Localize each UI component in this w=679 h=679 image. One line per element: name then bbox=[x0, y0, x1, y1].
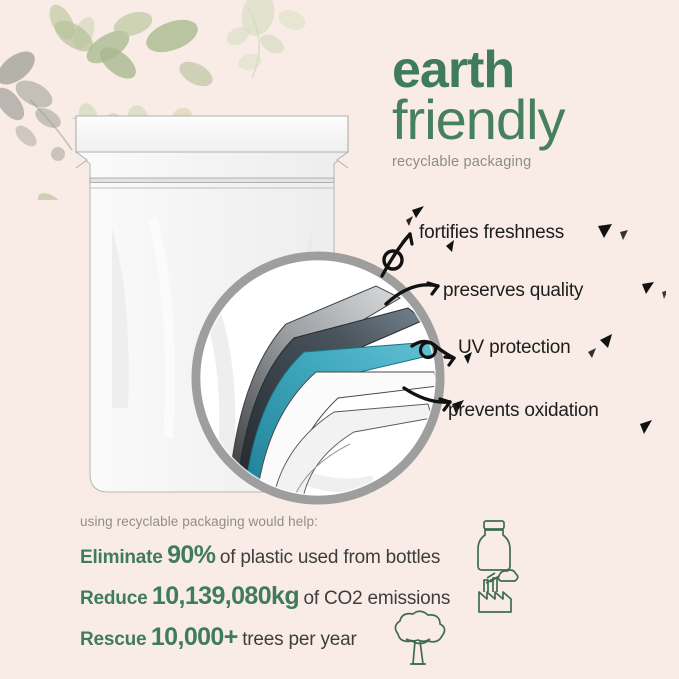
stat-verb: Eliminate bbox=[80, 547, 163, 568]
poster-canvas: earth friendly recyclable packaging fort… bbox=[0, 0, 679, 679]
stat-verb: Rescue bbox=[80, 629, 146, 650]
headline-block: earth friendly recyclable packaging bbox=[392, 46, 662, 170]
headline-line-2: friendly bbox=[392, 93, 662, 148]
stat-number: 10,139,080kg bbox=[152, 582, 299, 610]
factory-icon bbox=[471, 566, 521, 614]
feature-label-preserves-quality: preserves quality bbox=[443, 280, 583, 302]
bottle-icon bbox=[472, 519, 516, 573]
stat-tail: trees per year bbox=[242, 629, 356, 650]
stat-tail: of plastic used from bottles bbox=[220, 547, 440, 568]
stat-number: 10,000+ bbox=[151, 623, 238, 651]
stat-number: 90% bbox=[167, 541, 215, 569]
stat-row: Rescue 10,000+ trees per year bbox=[80, 623, 550, 652]
feature-label-prevents-oxidation: prevents oxidation bbox=[448, 400, 599, 422]
stat-tail: of CO2 emissions bbox=[303, 588, 450, 609]
feature-label-fortifies-freshness: fortifies freshness bbox=[419, 222, 564, 244]
tree-icon bbox=[382, 608, 454, 670]
stat-verb: Reduce bbox=[80, 588, 147, 609]
feature-label-uv-protection: UV protection bbox=[458, 337, 571, 359]
headline-subtitle: recyclable packaging bbox=[392, 154, 662, 170]
